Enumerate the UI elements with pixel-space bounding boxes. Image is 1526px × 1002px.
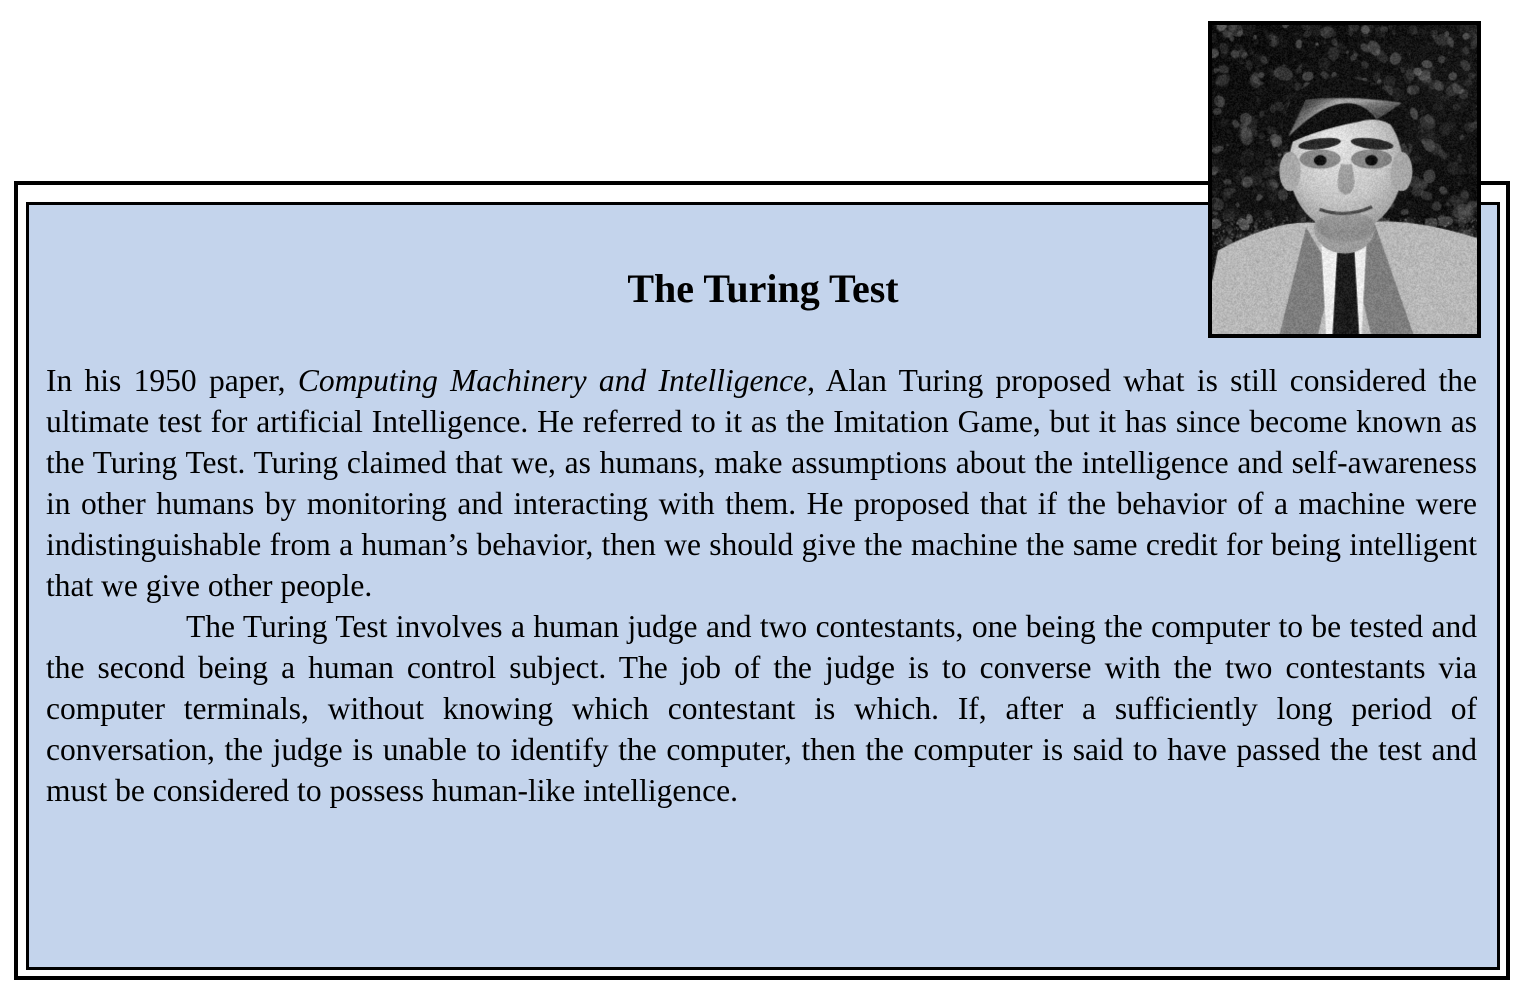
body-text: In his 1950 paper, Computing Machinery a… xyxy=(46,360,1477,811)
text-run: In his 1950 paper, xyxy=(46,363,298,398)
text-run: , Alan Turing proposed what is still con… xyxy=(46,363,1477,603)
paragraph-2: The Turing Test involves a human judge a… xyxy=(46,606,1477,811)
italic-book-title: Computing Machinery and Intelligence xyxy=(298,363,807,398)
text-run: The Turing Test involves a human judge a… xyxy=(46,609,1477,808)
alan-turing-portrait-photo xyxy=(1208,21,1481,338)
paragraph-1: In his 1950 paper, Computing Machinery a… xyxy=(46,360,1477,606)
portrait-image xyxy=(1212,25,1477,334)
